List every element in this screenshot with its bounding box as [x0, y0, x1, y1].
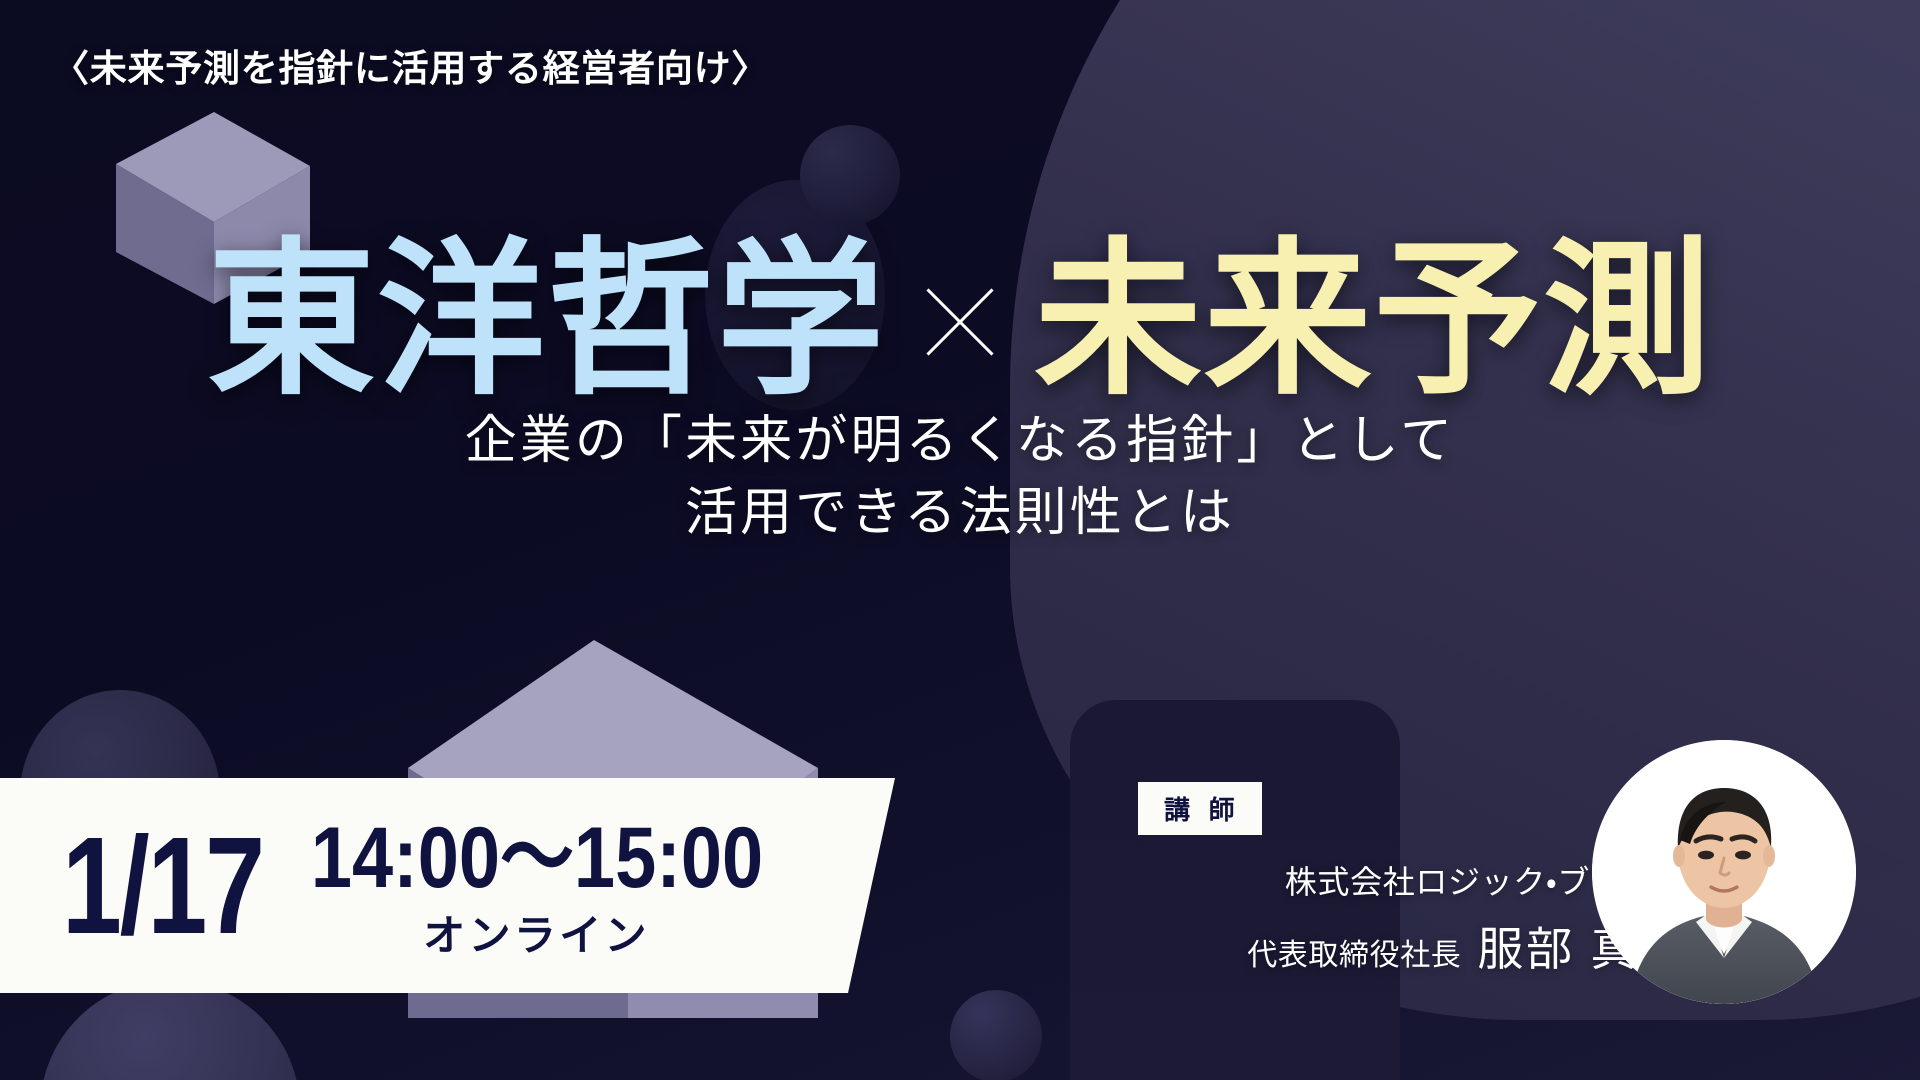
event-mode: オンライン [423, 915, 650, 957]
poster-canvas: 〈未来予測を指針に活用する経営者向け〉 東洋哲学 未来予測 企業の「未来が明るく… [0, 0, 1920, 1080]
sphere-decor-top [800, 125, 900, 225]
headline-left-term: 東洋哲学 [207, 238, 886, 406]
date-banner-content: 1/17 14:00〜15:00 オンライン [0, 778, 895, 993]
cross-icon [908, 270, 1012, 374]
eyebrow-text: 〈未来予測を指針に活用する経営者向け〉 [52, 38, 769, 92]
event-time: 14:00〜15:00 [310, 815, 762, 901]
speaker-title: 代表取締役社長 [1247, 939, 1461, 972]
speaker-badge: 講 師 [1138, 782, 1262, 835]
date-banner: 1/17 14:00〜15:00 オンライン [0, 778, 895, 993]
speaker-portrait-illustration [1592, 740, 1856, 1004]
headline-right-term: 未来予測 [1034, 238, 1713, 406]
event-date: 1/17 [62, 817, 263, 955]
subheadline-line-1: 企業の「未来が明るくなる指針」として [0, 406, 1920, 478]
speaker-portrait [1592, 740, 1856, 1004]
sphere-decor-bottom-center [950, 990, 1042, 1080]
subheadline: 企業の「未来が明るくなる指針」として 活用できる法則性とは [0, 406, 1920, 550]
event-time-block: 14:00〜15:00 オンライン [274, 815, 800, 957]
sphere-decor-bottom-left [40, 980, 300, 1080]
headline: 東洋哲学 未来予測 [0, 238, 1920, 406]
subheadline-line-2: 活用できる法則性とは [0, 478, 1920, 550]
